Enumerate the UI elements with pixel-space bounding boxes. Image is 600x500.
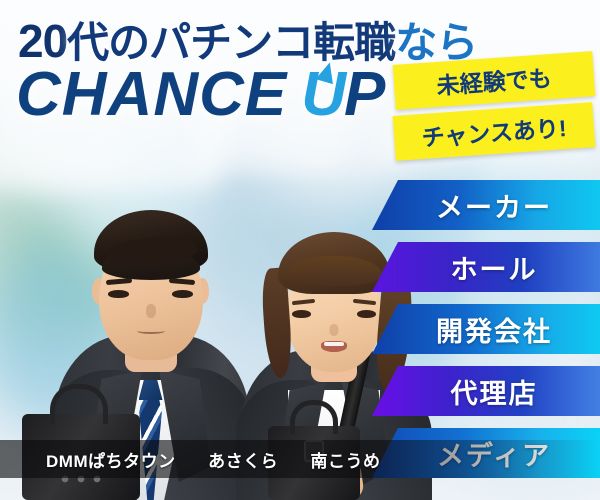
female-bangs	[286, 256, 382, 286]
headline-middle: 代のパチンコ転職	[67, 19, 395, 66]
category-label: 開発会社	[420, 310, 552, 349]
chance-up-logo: CHANCE U P	[16, 66, 385, 123]
category-button-hall[interactable]: ホール	[372, 242, 600, 292]
logo-word-chance: CHANCE	[16, 66, 287, 123]
credits-site: DMMぱちタウン	[46, 452, 176, 471]
male-mouth	[137, 328, 165, 334]
male-eye-right	[172, 290, 193, 298]
category-button-agency[interactable]: 代理店	[372, 366, 600, 416]
credits-person-1: あさくら	[208, 452, 278, 471]
logo-word-up: U P	[301, 66, 385, 123]
credits-person-2: 南こうめ	[311, 452, 381, 471]
category-label: メーカー	[420, 186, 552, 225]
male-nose	[146, 304, 156, 318]
credits-bar: DMMぱちタウン あさくら 南こうめ	[0, 440, 600, 478]
category-label: ホール	[435, 248, 538, 287]
male-eye-left	[108, 290, 129, 298]
recruitment-banner: 20代のパチンコ転職なら CHANCE U P 未経験でも チャンスあり! メー…	[0, 0, 600, 500]
briefcase-handle	[290, 400, 338, 434]
highlight-badge-group: 未経験でも チャンスあり!	[394, 58, 594, 154]
logo-letter-p: P	[344, 66, 385, 123]
credits-text: DMMぱちタウン あさくら 南こうめ	[0, 447, 381, 472]
badge-chance-available: チャンスあり!	[393, 102, 596, 161]
female-eye-left	[292, 310, 311, 318]
female-nose	[330, 324, 339, 336]
badge-no-experience: 未経験でも	[393, 51, 596, 110]
briefcase-handle	[50, 384, 108, 424]
category-button-maker[interactable]: メーカー	[372, 180, 600, 230]
female-mouth	[321, 341, 347, 352]
category-button-development-company[interactable]: 開発会社	[372, 304, 600, 354]
category-label: 代理店	[435, 372, 538, 411]
